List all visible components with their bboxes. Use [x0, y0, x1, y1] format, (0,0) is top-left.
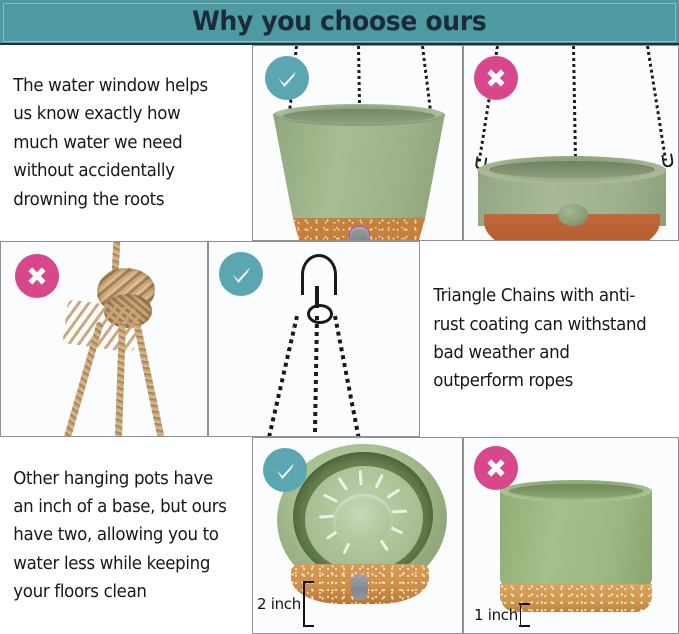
cross-icon — [474, 446, 518, 490]
chain-right — [646, 46, 667, 161]
pot-body — [500, 490, 652, 588]
cross-icon — [474, 56, 518, 100]
panel-pot-with-water-window — [252, 45, 463, 241]
panel-pot-without-water-window — [463, 45, 679, 241]
pot-drain-knob — [558, 204, 588, 226]
page-title: Why you choose ours — [192, 8, 486, 35]
drain-slot — [337, 477, 348, 491]
row-2-text-block: Triangle Chains with anti-rust coating c… — [420, 241, 679, 437]
s-hook-icon — [301, 254, 337, 295]
check-icon — [263, 448, 307, 492]
pot-interior — [489, 161, 655, 178]
drain-slot — [375, 474, 384, 489]
chain-right — [333, 316, 361, 437]
row-3-description: Other hanging pots have an inch of a bas… — [0, 465, 239, 607]
pot-interior — [509, 484, 643, 498]
dimension-text: 2 inch — [257, 595, 301, 613]
water-window-indicator — [351, 574, 368, 600]
drain-slot — [359, 470, 363, 485]
row-3-text-block: Other hanging pots have an inch of a bas… — [0, 437, 252, 634]
check-icon — [265, 56, 309, 100]
drain-slot — [323, 493, 338, 502]
panel-pot-one-inch-base: 1 inch — [463, 437, 679, 634]
drain-slot — [386, 488, 400, 499]
header-banner: Why you choose ours — [0, 0, 679, 45]
dimension-bracket-icon — [520, 603, 529, 627]
pot-interior — [283, 109, 435, 123]
check-icon — [219, 252, 263, 296]
dimension-text: 1 inch — [474, 606, 518, 624]
dimension-label-two-inch: 2 inch — [257, 581, 312, 627]
panel-metal-triangle-chain-hanger — [208, 241, 420, 437]
row-1-description: The water window helps us know exactly h… — [0, 72, 239, 214]
dimension-bracket-icon — [303, 581, 312, 627]
product-comparison-infographic: Why you choose ours The water window hel… — [0, 0, 679, 634]
dimension-label-one-inch: 1 inch — [474, 603, 529, 627]
chain-center — [572, 46, 577, 162]
panel-jute-rope-hanger — [0, 241, 208, 437]
row-2-description: Triangle Chains with anti-rust coating c… — [420, 282, 666, 395]
panel-pot-two-inch-base: 2 inch — [252, 437, 463, 634]
cross-icon — [15, 254, 59, 298]
chain-center — [313, 316, 319, 437]
pot-body — [273, 114, 445, 222]
drain-slot — [392, 509, 407, 513]
chain-left — [266, 316, 299, 437]
water-window-indicator — [349, 226, 370, 241]
rope-strand-right — [133, 321, 167, 437]
row-1-text-block: The water window helps us know exactly h… — [0, 45, 252, 241]
hook-gather-ring — [307, 304, 333, 324]
